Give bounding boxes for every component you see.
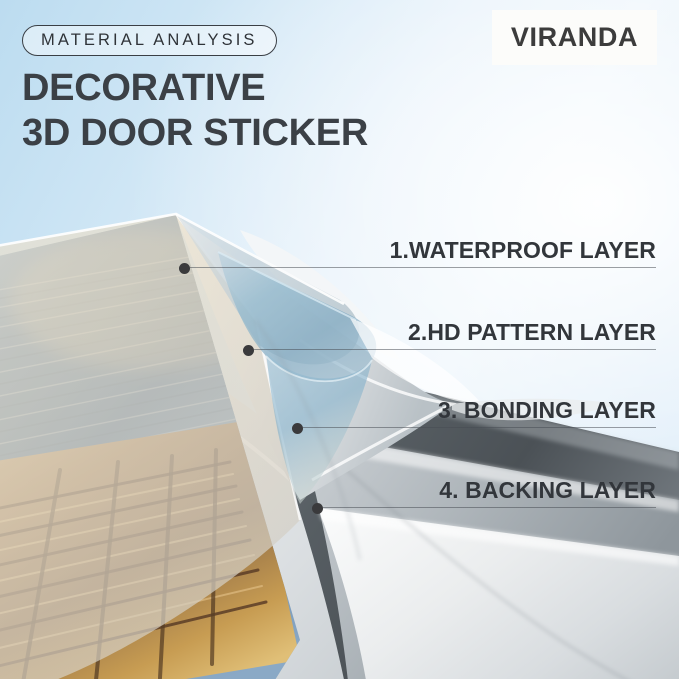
callout-2: 2.HD PATTERN LAYER — [254, 310, 656, 350]
callout-label: 4. BACKING LAYER — [439, 477, 656, 504]
page-title: DECORATIVE 3D DOOR STICKER — [22, 66, 368, 156]
callout-1: 1.WATERPROOF LAYER — [190, 228, 656, 268]
layer-backing-underside — [318, 508, 679, 679]
title-line-1: DECORATIVE — [22, 67, 265, 109]
material-analysis-badge: MATERIAL ANALYSIS — [22, 25, 277, 56]
brand-logo: VIRANDA — [492, 10, 657, 65]
callout-leader-line — [190, 267, 656, 268]
title-line-2: 3D DOOR STICKER — [22, 111, 368, 156]
callout-dot — [292, 423, 303, 434]
callout-leader-line — [303, 427, 656, 428]
badge-label: MATERIAL ANALYSIS — [41, 31, 258, 50]
layer-waterproof — [0, 214, 359, 679]
callout-4: 4. BACKING LAYER — [323, 468, 656, 508]
brand-name: VIRANDA — [511, 22, 638, 53]
callout-label: 2.HD PATTERN LAYER — [408, 319, 656, 346]
callout-label: 1.WATERPROOF LAYER — [390, 237, 656, 264]
layer-hd-pattern-blue — [218, 252, 376, 504]
callout-dot — [312, 503, 323, 514]
callout-3: 3. BONDING LAYER — [303, 388, 656, 428]
material-analysis-infographic: MATERIAL ANALYSIS DECORATIVE 3D DOOR STI… — [0, 0, 679, 679]
assembly-shadow — [0, 570, 500, 679]
callout-label: 3. BONDING LAYER — [438, 397, 656, 424]
callout-dot — [179, 263, 190, 274]
callout-leader-line — [323, 507, 656, 508]
callout-dot — [243, 345, 254, 356]
callout-leader-line — [254, 349, 656, 350]
layer-seam-shadow — [296, 425, 679, 679]
